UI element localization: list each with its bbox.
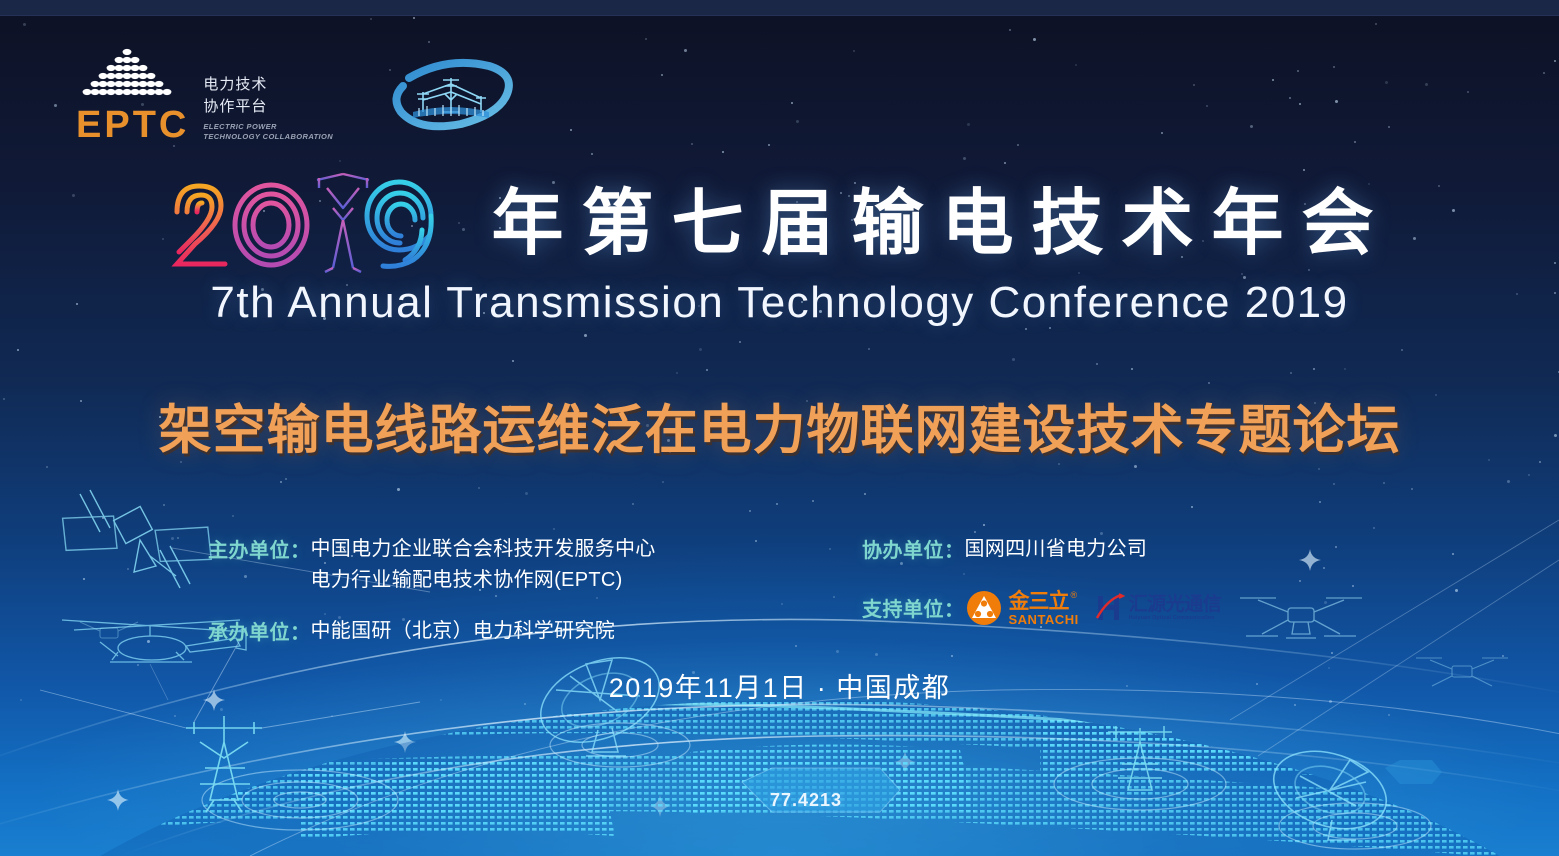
- credit-label: 承办单位：: [208, 616, 311, 645]
- credits-left-column: 主办单位： 中国电力企业联合会科技开发服务中心 电力行业输配电技术协作网(EPT…: [208, 534, 656, 653]
- eptc-english-line-1: ELECTRIC POWER: [203, 122, 277, 132]
- header-logos: EPTC 电力技术 协作平台 ELECTRIC POWER TECHNOLOGY…: [76, 44, 519, 144]
- santachi-english: SANTACHI: [1009, 613, 1079, 626]
- credit-row-coorganizer: 协办单位： 国网四川省电力公司: [862, 534, 1221, 565]
- hero-title: 年第七届输电技术年会: [0, 168, 1559, 280]
- top-strip: [0, 0, 1559, 16]
- eptc-chinese-line-1: 电力技术: [203, 74, 267, 96]
- eptc-logo: EPTC 电力技术 协作平台 ELECTRIC POWER TECHNOLOGY…: [76, 44, 333, 144]
- satellite-dish-right: [1264, 738, 1397, 842]
- santachi-chinese: 金三立: [1009, 591, 1069, 612]
- eptc-mountain-icon: [76, 44, 178, 106]
- credit-row-supporter: 支持单位： 金三立: [862, 593, 1221, 627]
- transmission-network-emblem-icon: [389, 54, 519, 134]
- sponsor-logos: 金三立 ® SANTACHI: [965, 589, 1222, 627]
- credit-value: 电力行业输配电技术协作网(EPTC): [311, 565, 656, 596]
- hex-badge-small: [1385, 760, 1442, 784]
- santachi-mark-icon: [965, 589, 1003, 627]
- hero-title-english: 7th Annual Transmission Technology Confe…: [0, 278, 1559, 328]
- credit-label: 主办单位：: [208, 534, 311, 563]
- eptc-wordmark: EPTC: [76, 106, 189, 144]
- eptc-tagline: 电力技术 协作平台 ELECTRIC POWER TECHNOLOGY COLL…: [203, 74, 333, 144]
- huiyuan-english: Huiyuan Optical Communication: [1129, 616, 1222, 621]
- credit-value: 国网四川省电力公司: [965, 534, 1148, 565]
- huiyuan-optical-logo: 汇源光通信 Huiyuan Optical Communication: [1095, 592, 1222, 624]
- transmission-tower-right: [1108, 726, 1172, 790]
- credits-right-column: 协办单位： 国网四川省电力公司 支持单位：: [862, 534, 1221, 633]
- santachi-logo: 金三立 ® SANTACHI: [965, 589, 1079, 627]
- year-2019-logo: [167, 168, 455, 280]
- credit-row-host: 承办单位： 中能国研（北京）电力科学研究院: [208, 616, 656, 647]
- credit-label: 支持单位：: [862, 593, 965, 622]
- transmission-tower-left: [186, 716, 262, 812]
- credit-row-organizer: 主办单位： 中国电力企业联合会科技开发服务中心 电力行业输配电技术协作网(EPT…: [208, 534, 656, 596]
- santachi-registered-mark: ®: [1071, 591, 1078, 600]
- huiyuan-chinese: 汇源光通信: [1129, 595, 1222, 614]
- eptc-english-line-2: TECHNOLOGY COLLABORATION: [203, 132, 333, 142]
- hex-badge-value: 77.4213: [770, 790, 842, 811]
- hero-title-chinese: 年第七届输电技术年会: [481, 188, 1391, 260]
- forum-subtitle: 架空输电线路运维泛在电力物联网建设技术专题论坛: [0, 388, 1559, 464]
- huiyuan-mark-icon: [1095, 592, 1125, 624]
- date-location: 2019年11月1日 · 中国成都: [0, 666, 1559, 705]
- eptc-chinese-line-2: 协作平台: [203, 96, 267, 118]
- credit-value: 中能国研（北京）电力科学研究院: [311, 616, 616, 647]
- credit-label: 协办单位：: [862, 534, 965, 563]
- credit-value: 中国电力企业联合会科技开发服务中心: [311, 534, 656, 565]
- credits-block: 主办单位： 中国电力企业联合会科技开发服务中心 电力行业输配电技术协作网(EPT…: [0, 534, 1559, 654]
- conference-poster: 77.4213: [0, 0, 1559, 856]
